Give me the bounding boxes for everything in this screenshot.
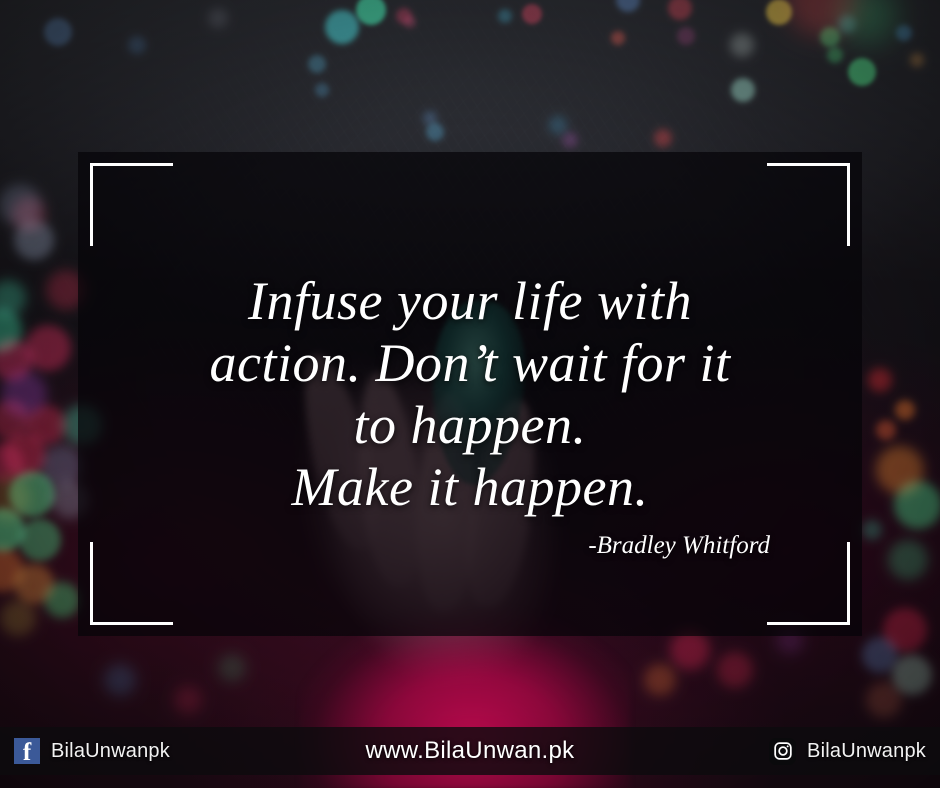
quote-line-3: to happen. [118, 394, 822, 456]
social-footer-bar: f BilaUnwanpk www.BilaUnwan.pk BilaUnwan… [0, 727, 940, 775]
quote-attribution: -Bradley Whitford [118, 532, 822, 560]
quote-line-2: action. Don’t wait for it [118, 332, 822, 394]
website-url-label[interactable]: www.BilaUnwan.pk [366, 737, 575, 765]
facebook-f-glyph: f [23, 740, 31, 764]
quote-graphic-canvas: Infuse your life with action. Don’t wait… [0, 0, 940, 788]
instagram-handle-group[interactable]: BilaUnwanpk [716, 738, 926, 765]
quote-line-1: Infuse your life with [118, 270, 822, 332]
quote-line-4: Make it happen. [118, 456, 822, 518]
instagram-icon[interactable] [769, 738, 796, 765]
facebook-icon[interactable]: f [14, 738, 40, 764]
facebook-handle-label: BilaUnwanpk [51, 740, 170, 763]
quote-panel: Infuse your life with action. Don’t wait… [78, 152, 862, 636]
corner-bracket-top-left [90, 163, 173, 246]
quote-text-block: Infuse your life with action. Don’t wait… [78, 270, 862, 560]
instagram-handle-label: BilaUnwanpk [807, 740, 926, 763]
facebook-handle-group[interactable]: f BilaUnwanpk [14, 738, 224, 764]
corner-bracket-top-right [767, 163, 850, 246]
instagram-camera-glyph [773, 741, 793, 761]
